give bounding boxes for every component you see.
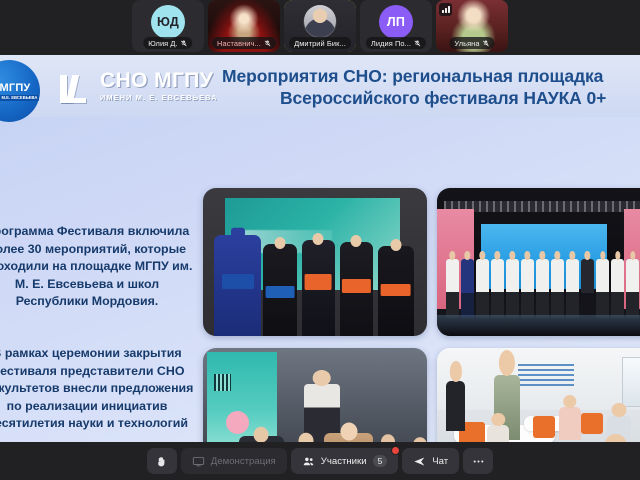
- participant-name-chip: Ульяна: [449, 37, 494, 49]
- avatar: ЮД: [151, 5, 185, 39]
- participants-icon: [302, 455, 315, 468]
- participant-strip: ЮД Юлия Д. Наставнич...: [0, 0, 640, 55]
- screen-share-area[interactable]: МГПУ ИМ. М.Е. ЕВСЕВЬЕВА СНО МГПУ ИМЕНИ М…: [0, 55, 640, 442]
- raise-hand-icon: [155, 455, 168, 468]
- slide-title: Мероприятия СНО: региональная площадка В…: [222, 65, 640, 110]
- participants-button[interactable]: Участники 5: [291, 448, 399, 474]
- share-screen-button[interactable]: Демонстрация: [181, 448, 287, 474]
- participants-count: 5: [373, 455, 388, 467]
- mic-muted-icon: [264, 40, 271, 47]
- participant-name-chip: Наставнич...: [212, 37, 276, 49]
- photo-stage-ceremony: [437, 188, 640, 336]
- mic-muted-icon: [414, 40, 421, 47]
- photo-classroom: [437, 348, 640, 442]
- participant-name-chip: Дмитрий Бик...: [289, 37, 351, 49]
- photo-audience-speaker: Дмитрий Биктеев: [203, 348, 427, 442]
- avatar: ЛП: [379, 5, 413, 39]
- mic-muted-icon: [483, 40, 490, 47]
- participant-tile-nastavnichestvo[interactable]: Наставнич...: [208, 0, 280, 52]
- video-call-window: ЮД Юлия Д. Наставнич...: [0, 0, 640, 480]
- avatar: [304, 5, 336, 37]
- share-screen-label: Демонстрация: [211, 456, 276, 467]
- sno-brand: СНО МГПУ ИМЕНИ М. Е. ЕВСЕВЬЕВА: [100, 70, 218, 102]
- participant-tile-ulyana[interactable]: Ульяна: [436, 0, 508, 52]
- mic-muted-icon: [181, 40, 188, 47]
- participant-name: Лидия По...: [371, 39, 411, 48]
- screen-share-icon: [192, 455, 205, 468]
- send-chat-icon: [413, 455, 426, 468]
- sno-book-icon: [60, 69, 94, 103]
- mgpu-logo-subtext: ИМ. М.Е. ЕВСЕВЬЕВА: [0, 95, 39, 101]
- slide-title-line2: Всероссийского фестиваля НАУКА 0+: [222, 87, 640, 109]
- slide-title-line1: Мероприятия СНО: региональная площадка: [222, 66, 603, 86]
- sno-brand-subtitle: ИМЕНИ М. Е. ЕВСЕВЬЕВА: [100, 93, 218, 102]
- participant-name: Дмитрий Бик...: [294, 39, 346, 48]
- participant-name: Наставнич...: [217, 39, 261, 48]
- participant-tile-dmitriy[interactable]: Дмитрий Бик...: [284, 0, 356, 52]
- participant-name: Ульяна: [454, 39, 479, 48]
- photo-award-group: [203, 188, 427, 336]
- chat-button[interactable]: Чат: [402, 448, 459, 474]
- mgpu-logo-text: МГПУ: [0, 82, 30, 94]
- participant-name: Юлия Д.: [148, 39, 177, 48]
- raise-hand-button[interactable]: [147, 448, 177, 474]
- participant-name-chip: Юлия Д.: [143, 37, 192, 49]
- call-toolbar: Демонстрация Участники 5 Чат: [0, 442, 640, 480]
- slide-body-text-1: Программа Фестиваля включила более 30 ме…: [0, 223, 196, 311]
- notification-badge: [391, 446, 400, 455]
- participants-label: Участники: [321, 456, 367, 467]
- participant-tile-yuliya[interactable]: ЮД Юлия Д.: [132, 0, 204, 52]
- chat-label: Чат: [432, 456, 448, 467]
- participant-tile-lidiya[interactable]: ЛП Лидия По...: [360, 0, 432, 52]
- signal-strength-icon: [439, 3, 452, 16]
- more-horizontal-icon: [472, 455, 485, 468]
- participant-name-chip: Лидия По...: [366, 37, 426, 49]
- more-options-button[interactable]: [463, 448, 493, 474]
- slide-body-text-2: В рамках церемонии закрытия Фестиваля пр…: [0, 345, 196, 433]
- sno-brand-title: СНО МГПУ: [100, 70, 218, 91]
